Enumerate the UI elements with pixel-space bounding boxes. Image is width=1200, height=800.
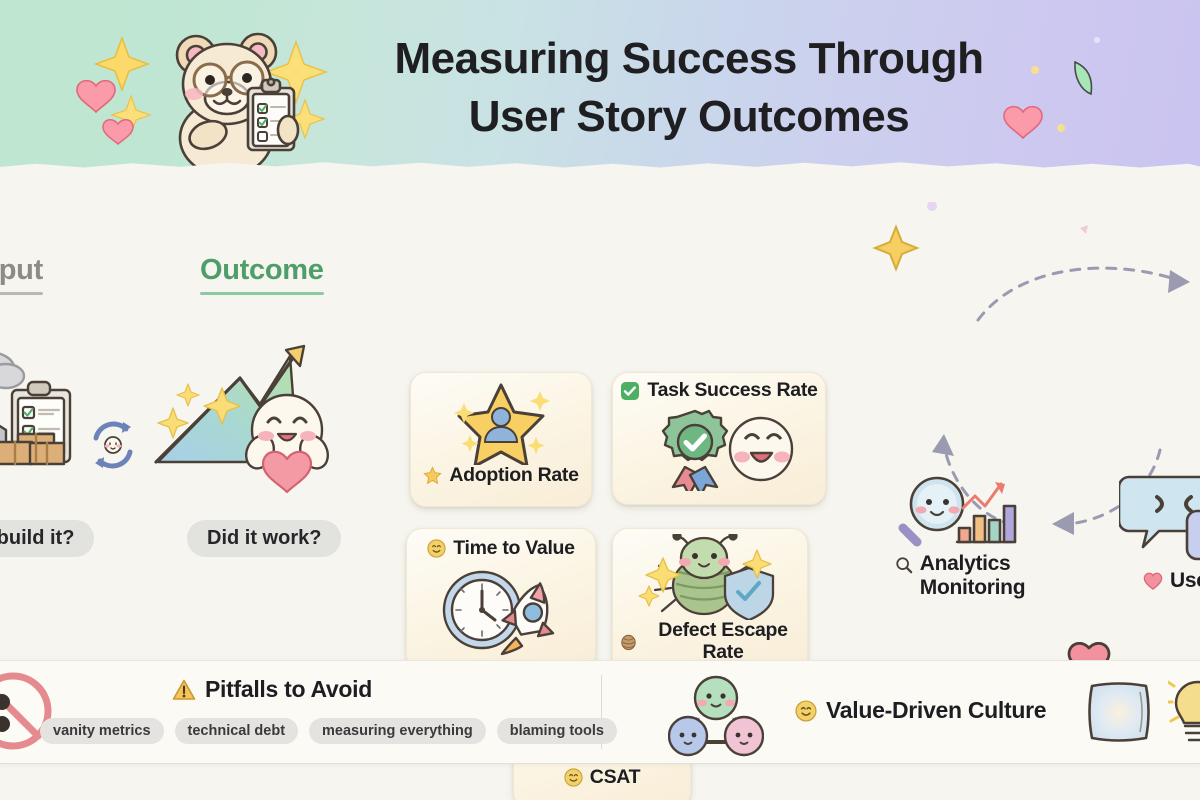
metric-card-task-success-rate[interactable]: Task Success Rate	[612, 372, 826, 505]
pitfall-tag[interactable]: measuring everything	[309, 718, 486, 744]
poster-header: Measuring Success Through User Story Out…	[0, 0, 1200, 172]
heart-icon	[1143, 571, 1163, 591]
poster-body: utput Outcome	[0, 172, 1200, 642]
lightbulb-icon	[1168, 676, 1200, 748]
metric-card-defect-escape-rate[interactable]: Defect Escape Rate	[612, 528, 808, 673]
card-label: Adoption Rate	[417, 465, 584, 487]
card-label: Defect Escape Rate	[613, 620, 807, 664]
outcome-underline	[200, 292, 324, 295]
arrow-analytics-to-feedback	[978, 268, 1178, 320]
star-user-icon	[446, 377, 556, 465]
loop-node-label: AnalyticsMonitoring	[895, 552, 1025, 599]
title-line-2: User Story Outcomes	[344, 88, 1034, 146]
pitfalls-heading: Pitfalls to Avoid	[172, 676, 372, 703]
culture-heading: Value-Driven Culture	[795, 697, 1046, 724]
pitfall-tag[interactable]: blaming tools	[497, 718, 617, 744]
pitfall-tag-list: vanity metrics technical debt measuring …	[40, 718, 617, 744]
chat-bubbles-heart-icon	[1119, 467, 1200, 567]
page-title: Measuring Success Through User Story Out…	[344, 30, 1034, 146]
warning-triangle-icon	[172, 678, 196, 702]
card-label: Time to Value	[421, 538, 580, 560]
arrowhead-3	[932, 434, 954, 456]
bear-mascot-icon	[152, 22, 302, 172]
output-outcome-illustration	[0, 312, 360, 512]
metric-card-adoption-rate[interactable]: Adoption Rate	[410, 372, 592, 507]
card-label: Task Success Rate	[614, 380, 823, 402]
output-underline	[0, 292, 43, 295]
arrowhead-1	[1168, 270, 1190, 293]
pitfalls-heading-text: Pitfalls to Avoid	[205, 676, 372, 703]
bug-icon	[619, 632, 638, 651]
magnifier-bar-chart-icon	[895, 472, 1025, 550]
culture-heading-text: Value-Driven Culture	[826, 697, 1046, 724]
outcome-question-pill: Did it work?	[187, 520, 341, 557]
metric-card-time-to-value[interactable]: Time to Value	[406, 528, 596, 670]
output-question-pill: e build it?	[0, 520, 94, 557]
loop-node-label: User Fe	[1143, 569, 1200, 593]
green-check-icon	[620, 381, 640, 401]
card-label-text: Time to Value	[453, 538, 574, 560]
loop-node-user-feedback[interactable]: User Fe	[1104, 467, 1200, 593]
card-label-text: CSAT	[590, 767, 640, 789]
star-decoration	[875, 227, 917, 269]
dot-decoration	[927, 202, 937, 211]
card-label-text: Adoption Rate	[449, 465, 578, 487]
outcome-column-heading: Outcome	[200, 254, 324, 295]
loop-node-label-text: AnalyticsMonitoring	[920, 552, 1025, 599]
smiley-icon	[427, 539, 446, 558]
card-label-text: Task Success Rate	[647, 380, 817, 402]
outcome-heading-text: Outcome	[200, 254, 324, 286]
loop-node-label-text: User Fe	[1170, 569, 1200, 593]
loop-node-analytics-monitoring[interactable]: AnalyticsMonitoring	[880, 472, 1040, 599]
arrowhead-2	[1052, 512, 1074, 535]
pitfall-tag[interactable]: technical debt	[175, 718, 299, 744]
magnifier-icon	[895, 556, 913, 574]
card-label: CSAT	[558, 767, 646, 789]
confetti-decoration	[1080, 225, 1088, 234]
infographic-poster: Measuring Success Through User Story Out…	[0, 0, 1200, 800]
output-column-heading: utput	[0, 254, 43, 295]
team-of-three-icon	[668, 672, 764, 758]
pillow-icon	[1082, 678, 1156, 746]
clock-rocket-icon	[426, 562, 576, 658]
star-icon	[423, 466, 442, 485]
title-line-1: Measuring Success Through	[344, 30, 1034, 88]
bug-shield-icon	[637, 534, 783, 620]
smiley-icon	[564, 768, 583, 787]
card-label-text: Defect Escape Rate	[645, 620, 801, 664]
pitfall-tag[interactable]: vanity metrics	[40, 718, 164, 744]
output-heading-text: utput	[0, 254, 43, 286]
smiley-icon	[795, 700, 817, 722]
award-smiley-icon	[639, 405, 799, 491]
